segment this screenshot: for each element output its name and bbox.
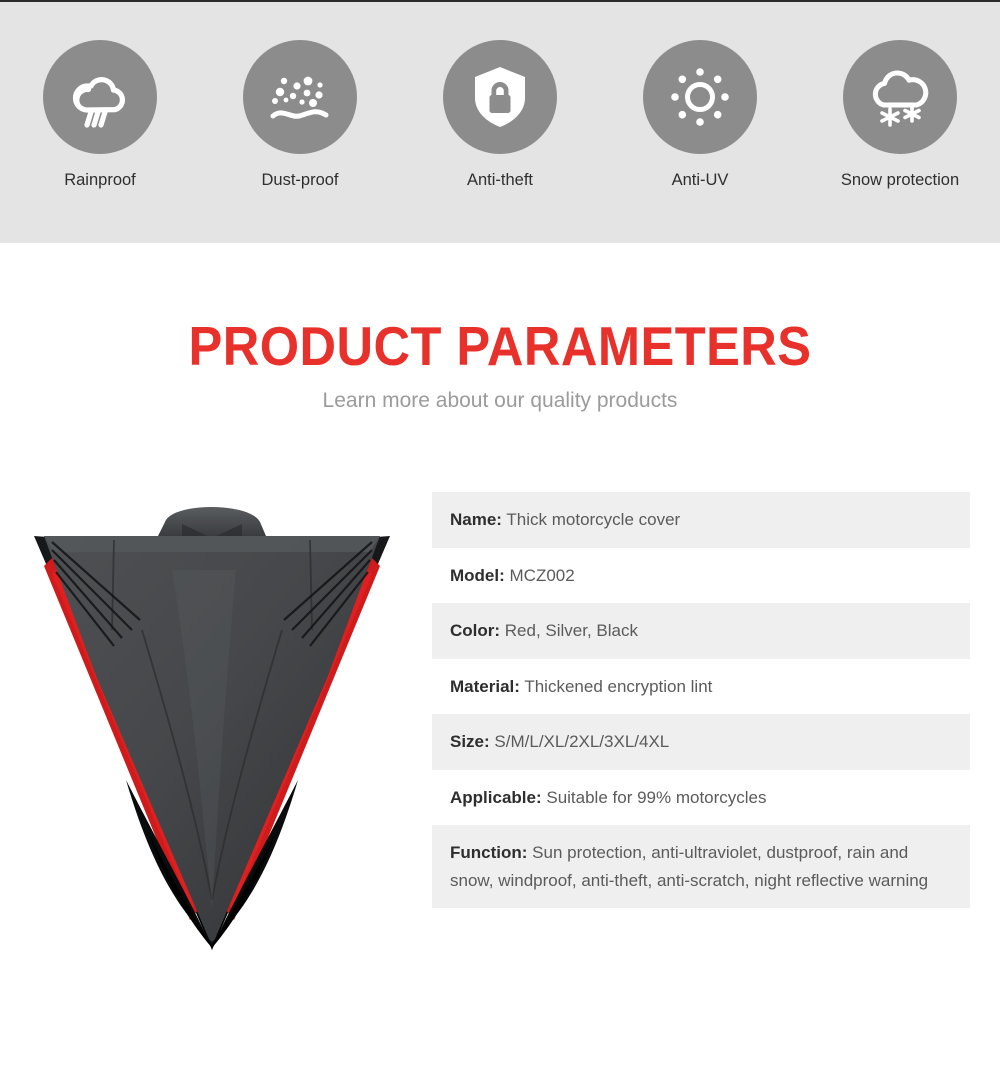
page-title: PRODUCT PARAMETERS bbox=[40, 318, 960, 374]
spec-row-applicable: Applicable: Suitable for 99% motorcycles bbox=[432, 770, 970, 826]
spec-value: Thick motorcycle cover bbox=[506, 510, 680, 529]
shield-lock-icon bbox=[471, 64, 529, 130]
feature-item-snow-protection[interactable]: Snow protection bbox=[807, 40, 993, 191]
spec-key: Name: bbox=[450, 510, 502, 529]
spec-key: Size: bbox=[450, 732, 490, 751]
feature-label: Anti-theft bbox=[467, 171, 533, 191]
feature-list: Rainproof bbox=[0, 40, 1000, 191]
motorcycle-cover-illustration bbox=[22, 480, 402, 950]
spec-key: Color: bbox=[450, 621, 500, 640]
dust-particles-icon bbox=[266, 66, 334, 128]
spec-key: Applicable: bbox=[450, 788, 542, 807]
spec-row-function: Function: Sun protection, anti-ultraviol… bbox=[432, 825, 970, 908]
spec-row-name: Name: Thick motorcycle cover bbox=[432, 492, 970, 548]
feature-item-anti-theft[interactable]: Anti-theft bbox=[407, 40, 593, 191]
rain-cloud-icon bbox=[66, 66, 134, 128]
spec-value: MCZ002 bbox=[510, 566, 575, 585]
feature-label: Snow protection bbox=[841, 171, 959, 191]
feature-label: Rainproof bbox=[64, 171, 136, 191]
snow-cloud-icon bbox=[865, 65, 935, 129]
spec-row-material: Material: Thickened encryption lint bbox=[432, 659, 970, 715]
feature-icon-circle bbox=[243, 40, 357, 154]
product-content: Name: Thick motorcycle cover Model: MCZ0… bbox=[0, 470, 1000, 970]
feature-icon-circle bbox=[443, 40, 557, 154]
spec-key: Function: bbox=[450, 843, 527, 862]
spec-key: Material: bbox=[450, 677, 520, 696]
spec-row-color: Color: Red, Silver, Black bbox=[432, 603, 970, 659]
spec-value: Suitable for 99% motorcycles bbox=[546, 788, 766, 807]
sun-icon bbox=[668, 65, 732, 129]
product-image bbox=[22, 480, 402, 950]
spec-key: Model: bbox=[450, 566, 505, 585]
feature-label: Anti-UV bbox=[672, 171, 729, 191]
feature-item-anti-uv[interactable]: Anti-UV bbox=[607, 40, 793, 191]
feature-item-dust-proof[interactable]: Dust-proof bbox=[207, 40, 393, 191]
feature-icon-circle bbox=[43, 40, 157, 154]
feature-icon-circle bbox=[643, 40, 757, 154]
spec-row-model: Model: MCZ002 bbox=[432, 548, 970, 604]
feature-label: Dust-proof bbox=[261, 171, 338, 191]
spec-value: S/M/L/XL/2XL/3XL/4XL bbox=[494, 732, 669, 751]
spec-value: Red, Silver, Black bbox=[505, 621, 638, 640]
heading-block: PRODUCT PARAMETERS Learn more about our … bbox=[0, 318, 1000, 413]
feature-icon-circle bbox=[843, 40, 957, 154]
page-subtitle: Learn more about our quality products bbox=[0, 388, 1000, 413]
spec-table: Name: Thick motorcycle cover Model: MCZ0… bbox=[432, 492, 970, 908]
feature-band: Rainproof bbox=[0, 0, 1000, 243]
feature-item-rainproof[interactable]: Rainproof bbox=[7, 40, 193, 191]
spec-row-size: Size: S/M/L/XL/2XL/3XL/4XL bbox=[432, 714, 970, 770]
spec-value: Thickened encryption lint bbox=[524, 677, 712, 696]
